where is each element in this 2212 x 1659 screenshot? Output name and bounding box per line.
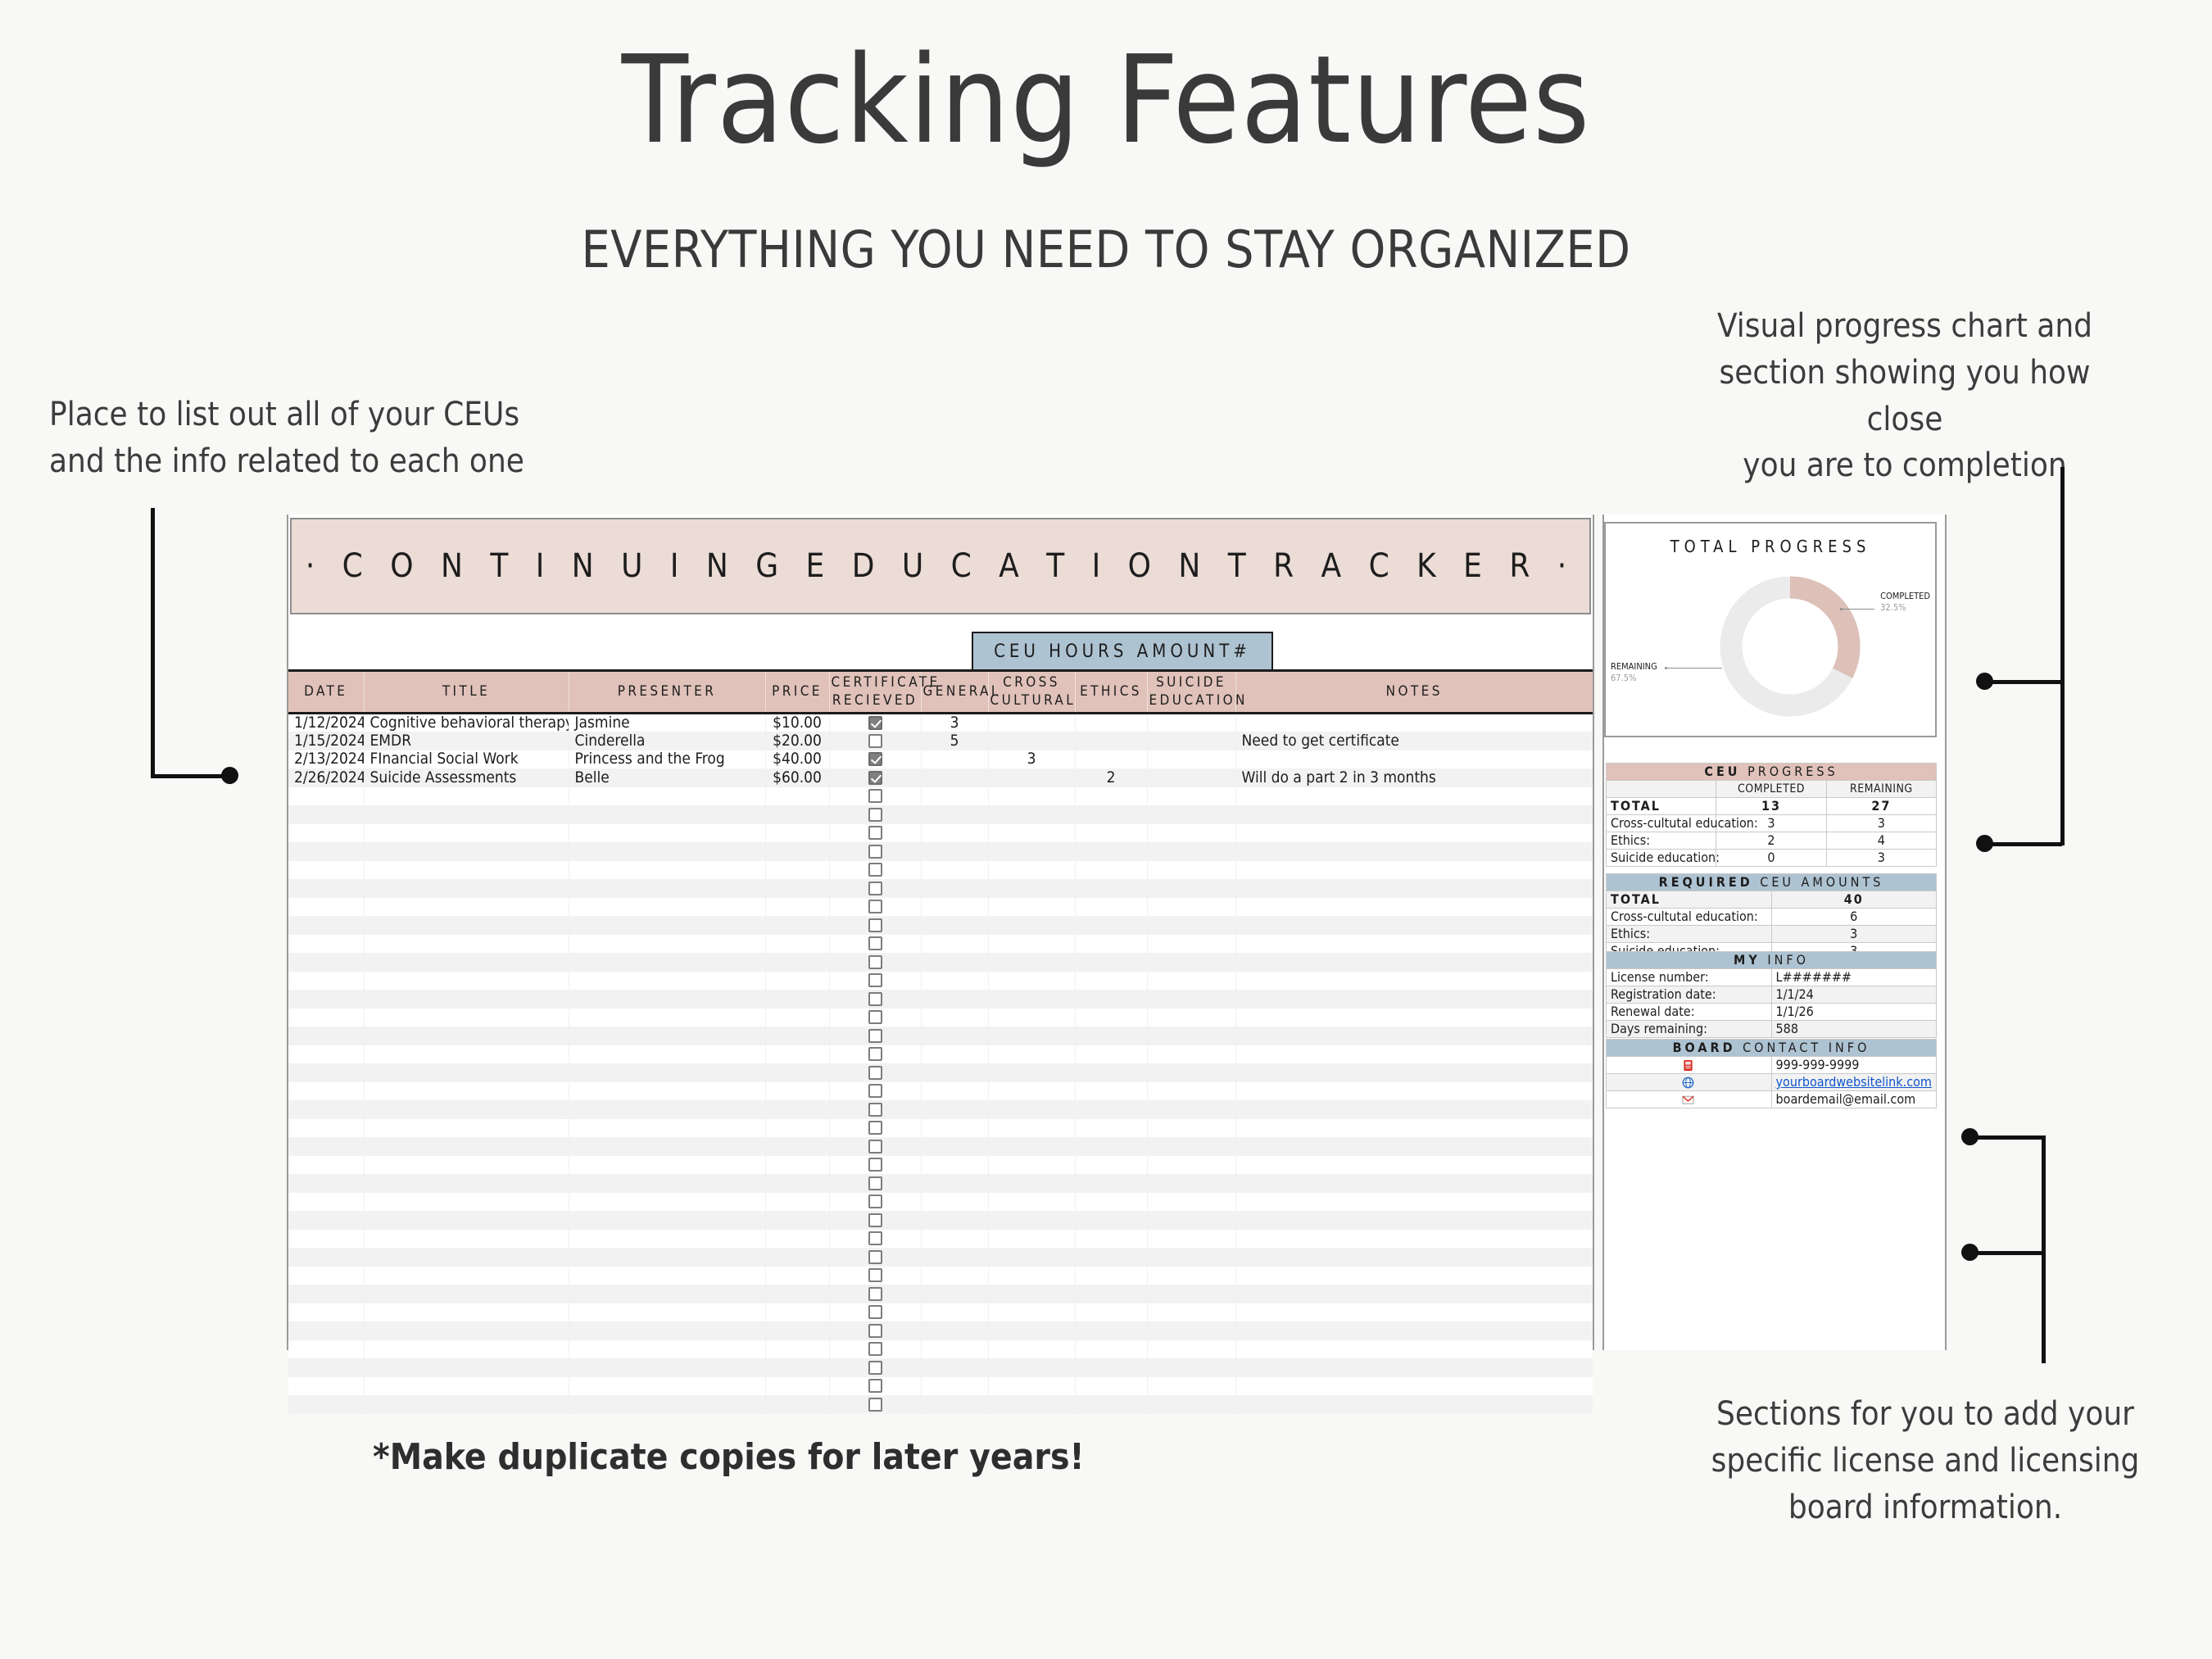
cell-date[interactable] [288, 972, 364, 990]
cell-notes[interactable] [1235, 1377, 1593, 1396]
cell-presenter[interactable] [569, 898, 765, 917]
cell-price[interactable] [765, 842, 829, 861]
checkbox-unchecked-icon[interactable] [868, 826, 882, 840]
cell-date[interactable] [288, 787, 364, 806]
cell-cross-cultural[interactable] [988, 972, 1075, 990]
col-header-cross-cultural[interactable]: CROSS CULTURAL [988, 671, 1075, 714]
cell-title[interactable]: FInancial Social Work [364, 750, 569, 769]
cell-cross-cultural[interactable] [988, 787, 1075, 806]
cell-certificate-received[interactable] [829, 732, 921, 750]
cell-price[interactable] [765, 1063, 829, 1082]
cell-cross-cultural[interactable] [988, 1358, 1075, 1377]
cell-certificate-received[interactable] [829, 1027, 921, 1045]
cell-suicide-education[interactable] [1147, 1395, 1235, 1414]
cell-cross-cultural[interactable] [988, 1193, 1075, 1212]
cell-general[interactable] [921, 787, 988, 806]
cell-certificate-received[interactable] [829, 1063, 921, 1082]
cell-suicide-education[interactable] [1147, 1119, 1235, 1138]
checkbox-unchecked-icon[interactable] [868, 845, 882, 859]
cell-general[interactable] [921, 1193, 988, 1212]
cell-price[interactable] [765, 1303, 829, 1322]
cell-ethics[interactable] [1075, 916, 1147, 935]
cell-suicide-education[interactable] [1147, 1230, 1235, 1249]
cell-certificate-received[interactable] [829, 1009, 921, 1027]
cell-certificate-received[interactable] [829, 750, 921, 769]
cell-ethics[interactable] [1075, 1377, 1147, 1396]
cell-certificate-received[interactable] [829, 805, 921, 824]
cell-date[interactable]: 2/26/2024 [288, 768, 364, 787]
cell-certificate-received[interactable] [829, 1395, 921, 1414]
cell-certificate-received[interactable] [829, 1358, 921, 1377]
cell-cross-cultural[interactable] [988, 1174, 1075, 1193]
cell-date[interactable] [288, 1063, 364, 1082]
cell-certificate-received[interactable] [829, 879, 921, 898]
cell-price[interactable] [765, 1100, 829, 1119]
cell-notes[interactable] [1235, 714, 1593, 732]
cell-presenter[interactable] [569, 1063, 765, 1082]
cell-title[interactable] [364, 1009, 569, 1027]
cell-general[interactable] [921, 972, 988, 990]
cell-suicide-education[interactable] [1147, 1377, 1235, 1396]
cell-presenter[interactable] [569, 1009, 765, 1027]
cell-certificate-received[interactable] [829, 1285, 921, 1303]
cell-presenter[interactable] [569, 842, 765, 861]
cell-title[interactable] [364, 1248, 569, 1267]
cell-title[interactable] [364, 953, 569, 972]
cell-suicide-education[interactable] [1147, 1340, 1235, 1359]
cell-presenter[interactable] [569, 824, 765, 843]
cell-suicide-education[interactable] [1147, 953, 1235, 972]
cell-presenter[interactable]: Cinderella [569, 732, 765, 750]
cell-general[interactable] [921, 1027, 988, 1045]
cell-title[interactable]: Suicide Assessments [364, 768, 569, 787]
cell-notes[interactable] [1235, 916, 1593, 935]
cell-price[interactable] [765, 953, 829, 972]
checkbox-unchecked-icon[interactable] [868, 1029, 882, 1043]
cell-general[interactable] [921, 1285, 988, 1303]
cell-date[interactable] [288, 1174, 364, 1193]
cell-price[interactable] [765, 1321, 829, 1340]
cell-general[interactable] [921, 1358, 988, 1377]
cell-ethics[interactable] [1075, 1230, 1147, 1249]
cell-certificate-received[interactable] [829, 1230, 921, 1249]
cell-price[interactable] [765, 879, 829, 898]
checkbox-unchecked-icon[interactable] [868, 1379, 882, 1393]
cell-date[interactable]: 1/12/2024 [288, 714, 364, 732]
cell-cross-cultural[interactable] [988, 916, 1075, 935]
cell-title[interactable] [364, 1063, 569, 1082]
cell-price[interactable] [765, 972, 829, 990]
cell-general[interactable] [921, 1063, 988, 1082]
cell-presenter[interactable] [569, 1377, 765, 1396]
cell-cross-cultural[interactable] [988, 1156, 1075, 1175]
cell-title[interactable] [364, 1027, 569, 1045]
cell-date[interactable] [288, 898, 364, 917]
checkbox-unchecked-icon[interactable] [868, 1066, 882, 1080]
cell-suicide-education[interactable] [1147, 972, 1235, 990]
cell-ethics[interactable] [1075, 1340, 1147, 1359]
cell-certificate-received[interactable] [829, 1248, 921, 1267]
cell-general[interactable] [921, 898, 988, 917]
col-header-notes[interactable]: NOTES [1235, 671, 1593, 714]
cell-general[interactable]: 3 [921, 714, 988, 732]
cell-cross-cultural[interactable] [988, 1285, 1075, 1303]
cell-general[interactable] [921, 879, 988, 898]
cell-notes[interactable] [1235, 1267, 1593, 1285]
cell-date[interactable] [288, 805, 364, 824]
cell-presenter[interactable] [569, 1100, 765, 1119]
cell-title[interactable] [364, 1395, 569, 1414]
cell-cross-cultural[interactable] [988, 879, 1075, 898]
cell-cross-cultural[interactable] [988, 861, 1075, 880]
cell-cross-cultural[interactable] [988, 1119, 1075, 1138]
cell-price[interactable] [765, 1395, 829, 1414]
checkbox-unchecked-icon[interactable] [868, 992, 882, 1006]
cell-cross-cultural[interactable] [988, 990, 1075, 1009]
cell-suicide-education[interactable] [1147, 935, 1235, 954]
cell-general[interactable] [921, 805, 988, 824]
checkbox-unchecked-icon[interactable] [868, 789, 882, 803]
cell-certificate-received[interactable] [829, 972, 921, 990]
cell-presenter[interactable] [569, 1119, 765, 1138]
cell-suicide-education[interactable] [1147, 1045, 1235, 1064]
cell-suicide-education[interactable] [1147, 916, 1235, 935]
checkbox-unchecked-icon[interactable] [868, 1010, 882, 1024]
my-info-row-value[interactable]: 1/1/26 [1771, 1004, 1937, 1021]
cell-title[interactable] [364, 1082, 569, 1101]
cell-ethics[interactable] [1075, 990, 1147, 1009]
cell-price[interactable] [765, 1009, 829, 1027]
cell-certificate-received[interactable] [829, 861, 921, 880]
cell-date[interactable]: 2/13/2024 [288, 750, 364, 769]
cell-ethics[interactable] [1075, 1285, 1147, 1303]
cell-suicide-education[interactable] [1147, 879, 1235, 898]
checkbox-unchecked-icon[interactable] [868, 1158, 882, 1172]
cell-notes[interactable] [1235, 1156, 1593, 1175]
cell-certificate-received[interactable] [829, 1321, 921, 1340]
cell-title[interactable] [364, 990, 569, 1009]
cell-date[interactable] [288, 1009, 364, 1027]
cell-notes[interactable]: Will do a part 2 in 3 months [1235, 768, 1593, 787]
cell-cross-cultural[interactable] [988, 1009, 1075, 1027]
cell-notes[interactable] [1235, 1193, 1593, 1212]
cell-title[interactable] [364, 1137, 569, 1156]
cell-date[interactable] [288, 824, 364, 843]
cell-title[interactable] [364, 842, 569, 861]
cell-certificate-received[interactable] [829, 898, 921, 917]
cell-presenter[interactable] [569, 1395, 765, 1414]
cell-cross-cultural[interactable] [988, 824, 1075, 843]
cell-presenter[interactable] [569, 805, 765, 824]
cell-ethics[interactable] [1075, 750, 1147, 769]
cell-price[interactable]: $40.00 [765, 750, 829, 769]
cell-suicide-education[interactable] [1147, 1211, 1235, 1230]
cell-date[interactable] [288, 1395, 364, 1414]
cell-cross-cultural[interactable] [988, 1321, 1075, 1340]
cell-price[interactable] [765, 1285, 829, 1303]
cell-ethics[interactable] [1075, 953, 1147, 972]
cell-price[interactable] [765, 1156, 829, 1175]
cell-date[interactable] [288, 1248, 364, 1267]
cell-title[interactable] [364, 861, 569, 880]
cell-notes[interactable] [1235, 1137, 1593, 1156]
cell-presenter[interactable] [569, 1303, 765, 1322]
col-header-title[interactable]: TITLE [364, 671, 569, 714]
cell-price[interactable] [765, 1267, 829, 1285]
cell-date[interactable]: 1/15/2024 [288, 732, 364, 750]
cell-notes[interactable] [1235, 1082, 1593, 1101]
cell-notes[interactable] [1235, 1174, 1593, 1193]
cell-suicide-education[interactable] [1147, 1082, 1235, 1101]
cell-notes[interactable] [1235, 787, 1593, 806]
cell-presenter[interactable] [569, 1230, 765, 1249]
cell-ethics[interactable] [1075, 935, 1147, 954]
cell-cross-cultural[interactable] [988, 1377, 1075, 1396]
cell-ethics[interactable] [1075, 1027, 1147, 1045]
cell-suicide-education[interactable] [1147, 1193, 1235, 1212]
cell-presenter[interactable] [569, 953, 765, 972]
cell-date[interactable] [288, 1230, 364, 1249]
cell-date[interactable] [288, 1045, 364, 1064]
cell-general[interactable] [921, 1303, 988, 1322]
cell-presenter[interactable] [569, 1045, 765, 1064]
cell-ethics[interactable] [1075, 1009, 1147, 1027]
cell-title[interactable] [364, 805, 569, 824]
cell-price[interactable] [765, 1248, 829, 1267]
cell-suicide-education[interactable] [1147, 787, 1235, 806]
cell-suicide-education[interactable] [1147, 1303, 1235, 1322]
cell-date[interactable] [288, 842, 364, 861]
checkbox-unchecked-icon[interactable] [868, 973, 882, 987]
cell-cross-cultural[interactable] [988, 714, 1075, 732]
cell-cross-cultural[interactable] [988, 953, 1075, 972]
cell-certificate-received[interactable] [829, 1082, 921, 1101]
col-header-price[interactable]: PRICE [765, 671, 829, 714]
cell-cross-cultural[interactable] [988, 898, 1075, 917]
cell-general[interactable] [921, 750, 988, 769]
checkbox-unchecked-icon[interactable] [868, 918, 882, 932]
cell-date[interactable] [288, 1340, 364, 1359]
cell-certificate-received[interactable] [829, 787, 921, 806]
cell-certificate-received[interactable] [829, 1100, 921, 1119]
cell-ethics[interactable] [1075, 824, 1147, 843]
checkbox-unchecked-icon[interactable] [868, 1361, 882, 1375]
cell-certificate-received[interactable] [829, 1267, 921, 1285]
cell-suicide-education[interactable] [1147, 1027, 1235, 1045]
cell-ethics[interactable] [1075, 1174, 1147, 1193]
checkbox-unchecked-icon[interactable] [868, 1342, 882, 1356]
cell-certificate-received[interactable] [829, 824, 921, 843]
cell-certificate-received[interactable] [829, 768, 921, 787]
checkbox-unchecked-icon[interactable] [868, 863, 882, 877]
cell-notes[interactable] [1235, 805, 1593, 824]
checkbox-unchecked-icon[interactable] [868, 1194, 882, 1208]
cell-ethics[interactable] [1075, 714, 1147, 732]
cell-cross-cultural[interactable] [988, 842, 1075, 861]
cell-certificate-received[interactable] [829, 1340, 921, 1359]
cell-price[interactable] [765, 1082, 829, 1101]
cell-date[interactable] [288, 1267, 364, 1285]
cell-price[interactable] [765, 1174, 829, 1193]
cell-cross-cultural[interactable] [988, 768, 1075, 787]
cell-notes[interactable] [1235, 972, 1593, 990]
cell-notes[interactable] [1235, 953, 1593, 972]
cell-title[interactable] [364, 1045, 569, 1064]
cell-cross-cultural[interactable] [988, 805, 1075, 824]
cell-cross-cultural[interactable]: 3 [988, 750, 1075, 769]
cell-certificate-received[interactable] [829, 1137, 921, 1156]
cell-presenter[interactable] [569, 1193, 765, 1212]
checkbox-unchecked-icon[interactable] [868, 936, 882, 950]
cell-date[interactable] [288, 1211, 364, 1230]
cell-general[interactable] [921, 1395, 988, 1414]
cell-date[interactable] [288, 990, 364, 1009]
cell-presenter[interactable]: Princess and the Frog [569, 750, 765, 769]
cell-general[interactable] [921, 1174, 988, 1193]
cell-general[interactable] [921, 1045, 988, 1064]
cell-notes[interactable] [1235, 935, 1593, 954]
cell-notes[interactable] [1235, 1248, 1593, 1267]
cell-title[interactable] [364, 1174, 569, 1193]
cell-certificate-received[interactable] [829, 990, 921, 1009]
cell-cross-cultural[interactable] [988, 1303, 1075, 1322]
checkbox-unchecked-icon[interactable] [868, 1398, 882, 1412]
cell-title[interactable] [364, 1119, 569, 1138]
cell-certificate-received[interactable] [829, 953, 921, 972]
cell-certificate-received[interactable] [829, 1156, 921, 1175]
cell-ethics[interactable] [1075, 1395, 1147, 1414]
cell-cross-cultural[interactable] [988, 1063, 1075, 1082]
cell-ethics[interactable] [1075, 1156, 1147, 1175]
cell-general[interactable] [921, 916, 988, 935]
cell-presenter[interactable]: Belle [569, 768, 765, 787]
cell-date[interactable] [288, 1377, 364, 1396]
cell-price[interactable] [765, 1377, 829, 1396]
cell-date[interactable] [288, 1100, 364, 1119]
cell-presenter[interactable] [569, 990, 765, 1009]
cell-certificate-received[interactable] [829, 714, 921, 732]
cell-presenter[interactable] [569, 1358, 765, 1377]
cell-ethics[interactable] [1075, 1267, 1147, 1285]
checkbox-checked-icon[interactable] [868, 716, 882, 730]
cell-price[interactable] [765, 1340, 829, 1359]
cell-notes[interactable] [1235, 861, 1593, 880]
cell-date[interactable] [288, 1285, 364, 1303]
my-info-row-value[interactable]: 588 [1771, 1021, 1937, 1038]
cell-price[interactable] [765, 1045, 829, 1064]
cell-cross-cultural[interactable] [988, 732, 1075, 750]
cell-notes[interactable] [1235, 1100, 1593, 1119]
cell-certificate-received[interactable] [829, 1377, 921, 1396]
cell-general[interactable] [921, 861, 988, 880]
cell-ethics[interactable] [1075, 1119, 1147, 1138]
cell-date[interactable] [288, 1027, 364, 1045]
cell-ethics[interactable] [1075, 1100, 1147, 1119]
cell-cross-cultural[interactable] [988, 1248, 1075, 1267]
cell-notes[interactable] [1235, 1045, 1593, 1064]
cell-general[interactable] [921, 824, 988, 843]
cell-ethics[interactable] [1075, 1321, 1147, 1340]
cell-notes[interactable] [1235, 750, 1593, 769]
cell-suicide-education[interactable] [1147, 898, 1235, 917]
board-contact-row-value[interactable]: yourboardwebsitelink.com [1771, 1074, 1937, 1091]
cell-ethics[interactable] [1075, 732, 1147, 750]
cell-certificate-received[interactable] [829, 1303, 921, 1322]
cell-presenter[interactable] [569, 1285, 765, 1303]
cell-general[interactable] [921, 768, 988, 787]
cell-suicide-education[interactable] [1147, 1285, 1235, 1303]
cell-cross-cultural[interactable] [988, 1027, 1075, 1045]
cell-cross-cultural[interactable] [988, 1100, 1075, 1119]
cell-title[interactable]: Cognitive behavioral therapy [364, 714, 569, 732]
cell-presenter[interactable] [569, 1267, 765, 1285]
cell-title[interactable] [364, 916, 569, 935]
checkbox-unchecked-icon[interactable] [868, 1103, 882, 1117]
cell-cross-cultural[interactable] [988, 935, 1075, 954]
cell-price[interactable] [765, 990, 829, 1009]
checkbox-unchecked-icon[interactable] [868, 1140, 882, 1154]
checkbox-unchecked-icon[interactable] [868, 734, 882, 748]
cell-suicide-education[interactable] [1147, 1100, 1235, 1119]
cell-date[interactable] [288, 1193, 364, 1212]
cell-price[interactable] [765, 1119, 829, 1138]
cell-certificate-received[interactable] [829, 1211, 921, 1230]
cell-presenter[interactable]: Jasmine [569, 714, 765, 732]
cell-suicide-education[interactable] [1147, 750, 1235, 769]
cell-presenter[interactable] [569, 787, 765, 806]
cell-presenter[interactable] [569, 1137, 765, 1156]
col-header-presenter[interactable]: PRESENTER [569, 671, 765, 714]
cell-ethics[interactable] [1075, 1358, 1147, 1377]
cell-general[interactable]: 5 [921, 732, 988, 750]
cell-date[interactable] [288, 953, 364, 972]
cell-presenter[interactable] [569, 1211, 765, 1230]
cell-notes[interactable] [1235, 1285, 1593, 1303]
cell-presenter[interactable] [569, 1248, 765, 1267]
cell-general[interactable] [921, 842, 988, 861]
cell-title[interactable] [364, 1303, 569, 1322]
cell-date[interactable] [288, 1303, 364, 1322]
my-info-row-value[interactable]: 1/1/24 [1771, 986, 1937, 1004]
checkbox-unchecked-icon[interactable] [868, 1231, 882, 1245]
cell-cross-cultural[interactable] [988, 1211, 1075, 1230]
cell-ethics[interactable] [1075, 787, 1147, 806]
cell-certificate-received[interactable] [829, 1045, 921, 1064]
checkbox-unchecked-icon[interactable] [868, 1250, 882, 1264]
cell-ethics[interactable] [1075, 805, 1147, 824]
checkbox-unchecked-icon[interactable] [868, 1084, 882, 1098]
cell-title[interactable] [364, 787, 569, 806]
cell-price[interactable] [765, 824, 829, 843]
cell-suicide-education[interactable] [1147, 990, 1235, 1009]
cell-certificate-received[interactable] [829, 1193, 921, 1212]
checkbox-unchecked-icon[interactable] [868, 1305, 882, 1319]
cell-suicide-education[interactable] [1147, 1137, 1235, 1156]
cell-price[interactable] [765, 1193, 829, 1212]
cell-date[interactable] [288, 935, 364, 954]
cell-ethics[interactable] [1075, 1082, 1147, 1101]
cell-suicide-education[interactable] [1147, 1321, 1235, 1340]
cell-notes[interactable] [1235, 1119, 1593, 1138]
cell-title[interactable] [364, 1321, 569, 1340]
cell-date[interactable] [288, 916, 364, 935]
cell-general[interactable] [921, 1156, 988, 1175]
cell-title[interactable] [364, 1267, 569, 1285]
cell-notes[interactable] [1235, 1063, 1593, 1082]
cell-general[interactable] [921, 1211, 988, 1230]
cell-price[interactable] [765, 861, 829, 880]
cell-ethics[interactable] [1075, 898, 1147, 917]
